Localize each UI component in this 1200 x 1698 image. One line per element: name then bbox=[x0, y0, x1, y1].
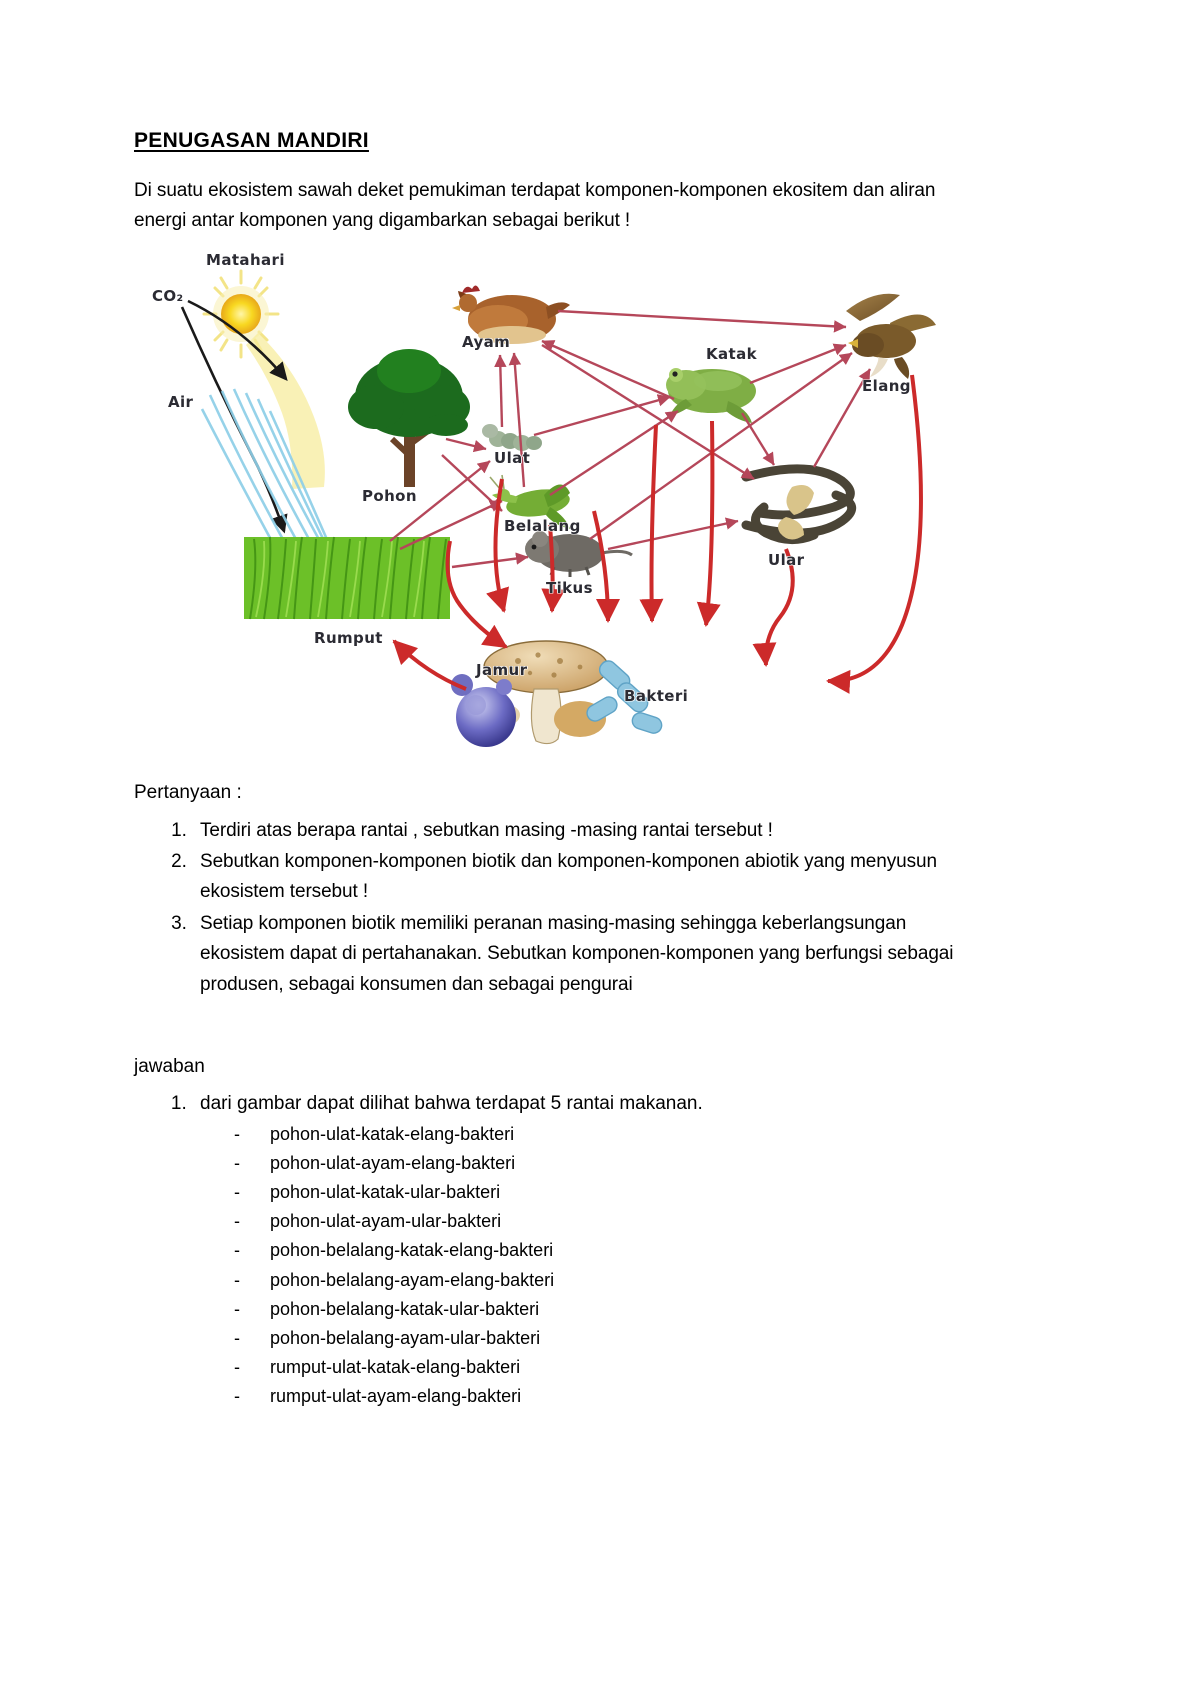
food-chain-text: pohon-belalang-ayam-ular-bakteri bbox=[270, 1328, 540, 1348]
answers-heading: jawaban bbox=[134, 1053, 984, 1082]
list-dash: - bbox=[234, 1324, 240, 1353]
food-chain-text: pohon-belalang-katak-ular-bakteri bbox=[270, 1299, 539, 1319]
food-chain-item: -pohon-ulat-ayam-elang-bakteri bbox=[234, 1149, 984, 1178]
grass-graphic bbox=[244, 537, 450, 619]
food-chain-item: -rumput-ulat-ayam-elang-bakteri bbox=[234, 1382, 984, 1411]
food-chain-text: pohon-ulat-ayam-ular-bakteri bbox=[270, 1211, 501, 1231]
page-title: PENUGASAN MANDIRI bbox=[134, 128, 984, 154]
food-chain-item: -pohon-ulat-katak-elang-bakteri bbox=[234, 1120, 984, 1149]
food-chain-text: pohon-ulat-katak-ular-bakteri bbox=[270, 1182, 500, 1202]
diagram-label-belalang: Belalang bbox=[504, 517, 581, 535]
answers-list: dari gambar dapat dilihat bahwa terdapat… bbox=[134, 1089, 984, 1411]
question-item: Setiap komponen biotik memiliki peranan … bbox=[192, 909, 984, 1000]
list-dash: - bbox=[234, 1207, 240, 1236]
document-content: PENUGASAN MANDIRI Di suatu ekosistem saw… bbox=[134, 128, 984, 1411]
food-chain-text: pohon-belalang-ayam-elang-bakteri bbox=[270, 1270, 554, 1290]
diagram-label-ayam: Ayam bbox=[462, 333, 510, 351]
food-chain-item: -pohon-belalang-ayam-ular-bakteri bbox=[234, 1324, 984, 1353]
diagram-label-air: Air bbox=[168, 393, 193, 411]
diagram-label-co2: CO₂ bbox=[152, 287, 184, 305]
answer-item-1: dari gambar dapat dilihat bahwa terdapat… bbox=[192, 1089, 984, 1411]
intro-paragraph: Di suatu ekosistem sawah deket pemukiman… bbox=[134, 176, 964, 235]
food-chain-item: -pohon-ulat-ayam-ular-bakteri bbox=[234, 1207, 984, 1236]
diagram-label-jamur: Jamur bbox=[476, 661, 527, 679]
document-page: PENUGASAN MANDIRI Di suatu ekosistem saw… bbox=[0, 0, 1200, 1698]
tree-graphic bbox=[348, 349, 470, 487]
diagram-label-matahari: Matahari bbox=[206, 251, 285, 269]
list-dash: - bbox=[234, 1382, 240, 1411]
diagram-label-bakteri: Bakteri bbox=[624, 687, 688, 705]
list-dash: - bbox=[234, 1120, 240, 1149]
questions-heading: Pertanyaan : bbox=[134, 779, 984, 808]
food-chain-text: pohon-ulat-katak-elang-bakteri bbox=[270, 1124, 514, 1144]
food-chain-item: -pohon-belalang-ayam-elang-bakteri bbox=[234, 1266, 984, 1295]
questions-list: Terdiri atas berapa rantai , sebutkan ma… bbox=[134, 816, 984, 1000]
list-dash: - bbox=[234, 1236, 240, 1265]
diagram-label-rumput: Rumput bbox=[314, 629, 383, 647]
question-item: Sebutkan komponen-komponen biotik dan ko… bbox=[192, 847, 984, 908]
mouse-graphic bbox=[525, 531, 632, 577]
food-chain-text: rumput-ulat-ayam-elang-bakteri bbox=[270, 1386, 521, 1406]
caterpillar-graphic bbox=[482, 424, 542, 451]
food-chain-item: -pohon-belalang-katak-elang-bakteri bbox=[234, 1236, 984, 1265]
food-chain-text: rumput-ulat-katak-elang-bakteri bbox=[270, 1357, 520, 1377]
diagram-label-ulat: Ulat bbox=[494, 449, 530, 467]
question-item: Terdiri atas berapa rantai , sebutkan ma… bbox=[192, 816, 984, 846]
food-chain-text: pohon-ulat-ayam-elang-bakteri bbox=[270, 1153, 515, 1173]
food-web-svg bbox=[146, 249, 936, 749]
diagram-label-elang: Elang bbox=[862, 377, 911, 395]
food-chain-text: pohon-belalang-katak-elang-bakteri bbox=[270, 1240, 553, 1260]
diagram-label-ular: Ular bbox=[768, 551, 804, 569]
answer-item-1-text: dari gambar dapat dilihat bahwa terdapat… bbox=[200, 1093, 703, 1114]
list-dash: - bbox=[234, 1178, 240, 1207]
eagle-graphic bbox=[846, 294, 936, 379]
food-chain-item: -rumput-ulat-katak-elang-bakteri bbox=[234, 1353, 984, 1382]
ecosystem-food-web-diagram: Matahari CO₂ Air Pohon Rumput Ayam Katak… bbox=[146, 249, 936, 749]
food-chain-item: -pohon-belalang-katak-ular-bakteri bbox=[234, 1295, 984, 1324]
diagram-label-tikus: Tikus bbox=[546, 579, 593, 597]
list-dash: - bbox=[234, 1353, 240, 1382]
food-chain-list: -pohon-ulat-katak-elang-bakteri -pohon-u… bbox=[200, 1120, 984, 1412]
food-chain-item: -pohon-ulat-katak-ular-bakteri bbox=[234, 1178, 984, 1207]
list-dash: - bbox=[234, 1266, 240, 1295]
diagram-label-pohon: Pohon bbox=[362, 487, 417, 505]
diagram-label-katak: Katak bbox=[706, 345, 757, 363]
list-dash: - bbox=[234, 1149, 240, 1178]
list-dash: - bbox=[234, 1295, 240, 1324]
